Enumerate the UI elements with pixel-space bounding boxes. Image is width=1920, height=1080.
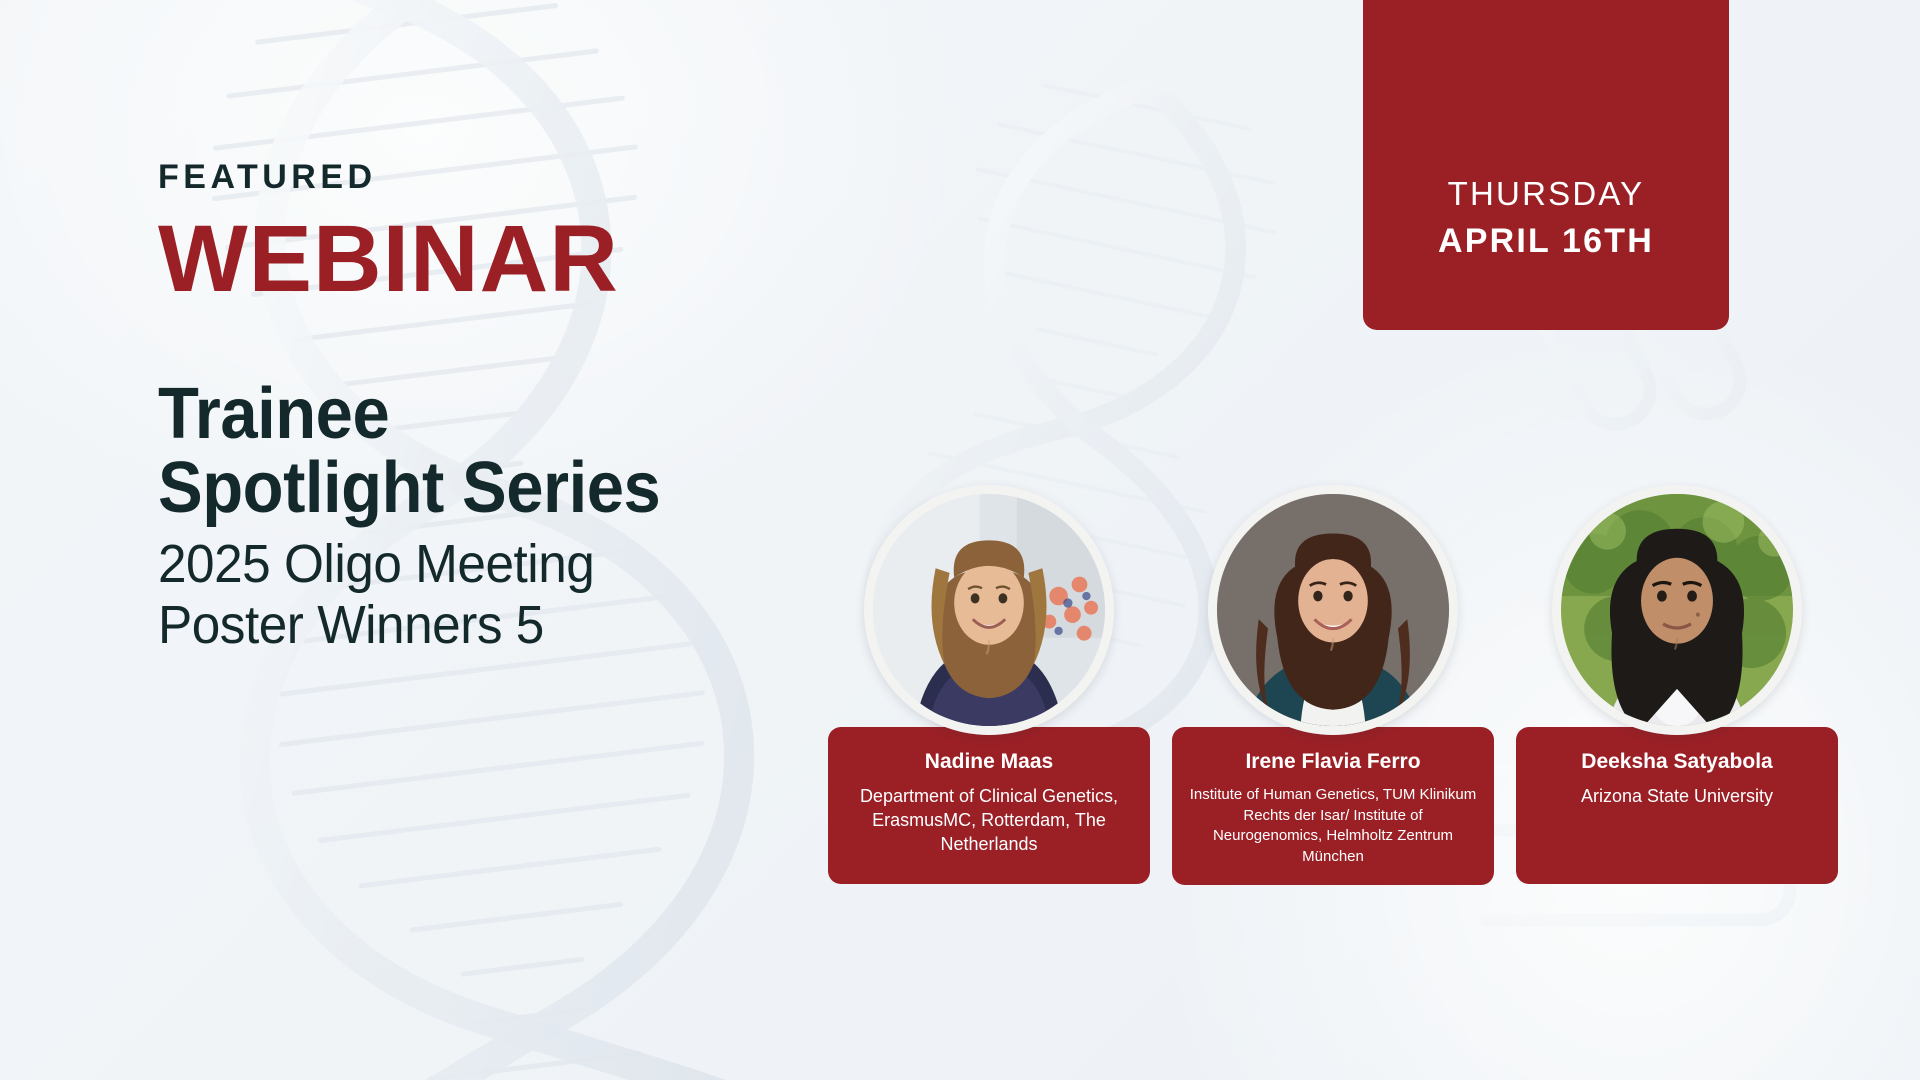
series-subtitle-line-1: 2025 Oligo Meeting bbox=[158, 534, 880, 594]
avatar-frame bbox=[1552, 485, 1802, 735]
featured-eyebrow: FEATURED bbox=[158, 160, 918, 194]
series-title-line-1: Trainee bbox=[158, 377, 865, 452]
headshot-nadine-maas bbox=[873, 494, 1105, 726]
speaker-name: Nadine Maas bbox=[844, 749, 1134, 774]
speaker-affiliation: Department of Clinical Genetics, Erasmus… bbox=[844, 785, 1134, 857]
speaker-item: Nadine Maas Department of Clinical Genet… bbox=[828, 485, 1150, 884]
speaker-affiliation: Institute of Human Genetics, TUM Kliniku… bbox=[1188, 785, 1478, 867]
speaker-item: Deeksha Satyabola Arizona State Universi… bbox=[1516, 485, 1838, 884]
date-badge: THURSDAY APRIL 16TH bbox=[1363, 0, 1729, 330]
series-subtitle-line-2: Poster Winners 5 bbox=[158, 595, 880, 655]
speaker-affiliation: Arizona State University bbox=[1532, 785, 1822, 809]
speaker-card: Deeksha Satyabola Arizona State Universi… bbox=[1516, 727, 1838, 884]
series-title-line-2: Spotlight Series bbox=[158, 451, 865, 526]
speaker-name: Irene Flavia Ferro bbox=[1188, 749, 1478, 774]
speaker-list: Nadine Maas Department of Clinical Genet… bbox=[828, 485, 1838, 885]
series-subtitle: 2025 Oligo Meeting Poster Winners 5 bbox=[158, 534, 880, 655]
avatar-frame bbox=[1208, 485, 1458, 735]
headshot-irene-flavia-ferro bbox=[1217, 494, 1449, 726]
headshot-deeksha-satyabola bbox=[1561, 494, 1793, 726]
series-title: Trainee Spotlight Series bbox=[158, 377, 865, 527]
headline-block: FEATURED WEBINAR Trainee Spotlight Serie… bbox=[158, 160, 918, 655]
speaker-item: Irene Flavia Ferro Institute of Human Ge… bbox=[1172, 485, 1494, 885]
speaker-name: Deeksha Satyabola bbox=[1532, 749, 1822, 774]
webinar-promo-poster: FEATURED WEBINAR Trainee Spotlight Serie… bbox=[0, 0, 1920, 1080]
date-weekday: THURSDAY bbox=[1448, 173, 1645, 214]
webinar-headline: WEBINAR bbox=[158, 208, 918, 311]
speaker-card: Nadine Maas Department of Clinical Genet… bbox=[828, 727, 1150, 884]
date-day-month: APRIL 16TH bbox=[1438, 220, 1654, 263]
avatar-frame bbox=[864, 485, 1114, 735]
speaker-card: Irene Flavia Ferro Institute of Human Ge… bbox=[1172, 727, 1494, 885]
